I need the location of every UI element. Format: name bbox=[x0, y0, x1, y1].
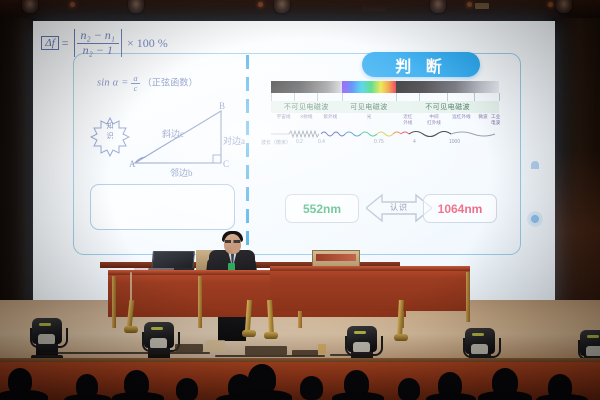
audience-head bbox=[176, 378, 198, 400]
spectrum-scale-tick: 1000 bbox=[449, 139, 460, 145]
floor-cable-run bbox=[40, 352, 210, 354]
sine-equation: sin α = a c （正弦函数） bbox=[97, 74, 198, 92]
ceiling-lamp-dot-icon bbox=[258, 2, 263, 7]
spectrum-sublabel-row: 宇宙线 X射线 紫外线 光 近红 外线 中间 红外线 远红外线 微波 工业 电波 bbox=[271, 114, 499, 127]
audience-shoulders bbox=[234, 390, 292, 400]
formula-absolute-bars: n₂ − n₁ n₂ − 1 bbox=[72, 29, 124, 58]
desk-leg bbox=[466, 272, 470, 322]
spectrum-sublabel: 远红外线 bbox=[449, 114, 474, 120]
floor-equipment bbox=[292, 350, 318, 356]
formula-symbol: Δf bbox=[41, 36, 59, 50]
spectrum-scale-tick: 0.2 bbox=[296, 139, 303, 145]
formula-equals: = bbox=[62, 36, 69, 51]
wavelength-right-box: 1064nm bbox=[423, 194, 497, 223]
sine-fraction-numerator: a bbox=[131, 74, 139, 83]
audience-shoulders bbox=[332, 392, 384, 400]
audience-shoulders bbox=[112, 392, 164, 400]
floor-equipment bbox=[318, 344, 326, 354]
formula-numerator: n₂ − n₁ bbox=[77, 29, 119, 43]
triangle-vertex-b: B bbox=[219, 101, 225, 111]
spectrum-sublabel: X射线 bbox=[296, 114, 317, 120]
spectrum-scale-row: 波长（微米） 0.2 0.4 0.75 4 1000 bbox=[261, 139, 509, 149]
triangle-vertex-c: C bbox=[223, 159, 229, 169]
formula-fraction: n₂ − n₁ n₂ − 1 bbox=[77, 29, 119, 58]
spectrum-band: 可见电磁波 bbox=[342, 101, 397, 113]
dot-badge-icon bbox=[527, 211, 543, 227]
ceiling-light-icon bbox=[22, 0, 38, 13]
light-stand-foot bbox=[264, 332, 278, 339]
presenter-hand bbox=[231, 244, 240, 253]
floor-equipment bbox=[245, 346, 287, 355]
floor-equipment bbox=[205, 340, 225, 352]
spectrum-scale-tick: 0.75 bbox=[374, 139, 384, 145]
spectrum-scale-caption: 波长（微米） bbox=[261, 139, 291, 146]
ceiling-light-icon bbox=[128, 0, 144, 13]
ceiling-fixture bbox=[475, 3, 489, 9]
audience-shoulders bbox=[64, 394, 112, 400]
desk-right-panel bbox=[270, 271, 470, 311]
triangle-opposite-label: 对边a bbox=[223, 134, 245, 147]
spectrum-sublabel: 工业 电波 bbox=[490, 114, 501, 126]
ceiling-lamp-dot-icon bbox=[467, 2, 472, 7]
spectrum-band: 不可见电磁波 bbox=[396, 101, 499, 113]
ceiling-lamp-dot-icon bbox=[70, 2, 75, 7]
spectrum-scale-tick: 4 bbox=[413, 139, 416, 145]
triangle-hypotenuse-label: 斜边c bbox=[162, 127, 184, 140]
floor-cable-run bbox=[330, 354, 375, 356]
stage-light-fixture bbox=[30, 318, 64, 362]
ceiling-light-icon bbox=[556, 0, 572, 13]
light-stand-foot bbox=[124, 326, 138, 333]
spectrum-scale-tick: 0.4 bbox=[318, 139, 325, 145]
spectrum-sublabel: 紫外线 bbox=[319, 114, 342, 120]
spectrum-band-row: 不可见电磁波 可见电磁波 不可见电磁波 bbox=[271, 101, 499, 113]
formula-denominator: n₂ − 1 bbox=[77, 43, 119, 58]
glasses-icon bbox=[225, 240, 240, 243]
spectrum-band: 不可见电磁波 bbox=[271, 101, 342, 113]
spectrum-waveform bbox=[271, 127, 499, 139]
audience-shoulders bbox=[478, 391, 532, 400]
spectrum-sublabel: 微波 bbox=[476, 114, 490, 120]
sine-fraction: a c bbox=[131, 74, 139, 92]
spectrum-sublabel: 宇宙线 bbox=[273, 114, 294, 120]
ceiling-fixture bbox=[362, 2, 386, 11]
delta-f-formula: Δf = n₂ − n₁ n₂ − 1 × 100 % bbox=[33, 21, 176, 65]
left-wall bbox=[0, 18, 36, 328]
arch-shape-icon bbox=[531, 161, 539, 169]
starburst-label: 知 识 bbox=[90, 122, 130, 142]
starburst-line2: 识 bbox=[90, 132, 130, 142]
electromagnetic-spectrum-chart: 不可见电磁波 可见电磁波 不可见电磁波 宇宙线 X射线 紫外线 光 近红 外线 … bbox=[261, 81, 509, 153]
spectrum-sublabel: 中间 红外线 bbox=[421, 114, 446, 126]
audience-shoulders bbox=[0, 390, 48, 400]
sine-equation-prefix: sin α = bbox=[97, 77, 129, 88]
triangle-vertex-a: A bbox=[129, 159, 136, 169]
audience-head bbox=[398, 378, 420, 400]
floor-equipment bbox=[175, 344, 203, 352]
spectrum-color-bar bbox=[271, 81, 499, 93]
spectrum-sublabel: 光 bbox=[344, 114, 394, 120]
audience-shoulders bbox=[426, 393, 476, 400]
sine-equation-note: （正弦函数） bbox=[143, 77, 198, 87]
spectrum-sublabel: 近红 外线 bbox=[396, 114, 419, 126]
ceiling-lamp-dot-icon bbox=[548, 2, 553, 7]
audience-head bbox=[300, 376, 323, 400]
wavelength-left-box: 552nm bbox=[285, 194, 359, 223]
formula-suffix: × 100 % bbox=[127, 36, 168, 51]
auditorium-scene: 判 断 sin α = a c （正弦函数） 知 识 bbox=[0, 0, 600, 400]
desk-leg bbox=[198, 276, 202, 328]
starburst-line1: 知 bbox=[90, 122, 130, 132]
light-stand-foot bbox=[242, 330, 256, 337]
formula-box bbox=[90, 184, 235, 230]
desk-leg bbox=[112, 276, 116, 328]
slide-title-badge: 判 断 bbox=[362, 52, 480, 77]
audience-shoulders bbox=[536, 394, 588, 400]
ceiling-light-icon bbox=[430, 0, 446, 13]
light-stand-foot bbox=[394, 334, 408, 341]
triangle-adjacent-label: 邻边b bbox=[170, 166, 193, 179]
sine-fraction-denominator: c bbox=[131, 83, 139, 93]
slide-vertical-divider bbox=[246, 55, 249, 251]
ceiling-light-icon bbox=[274, 0, 290, 13]
spectrum-tick-row bbox=[271, 93, 499, 101]
